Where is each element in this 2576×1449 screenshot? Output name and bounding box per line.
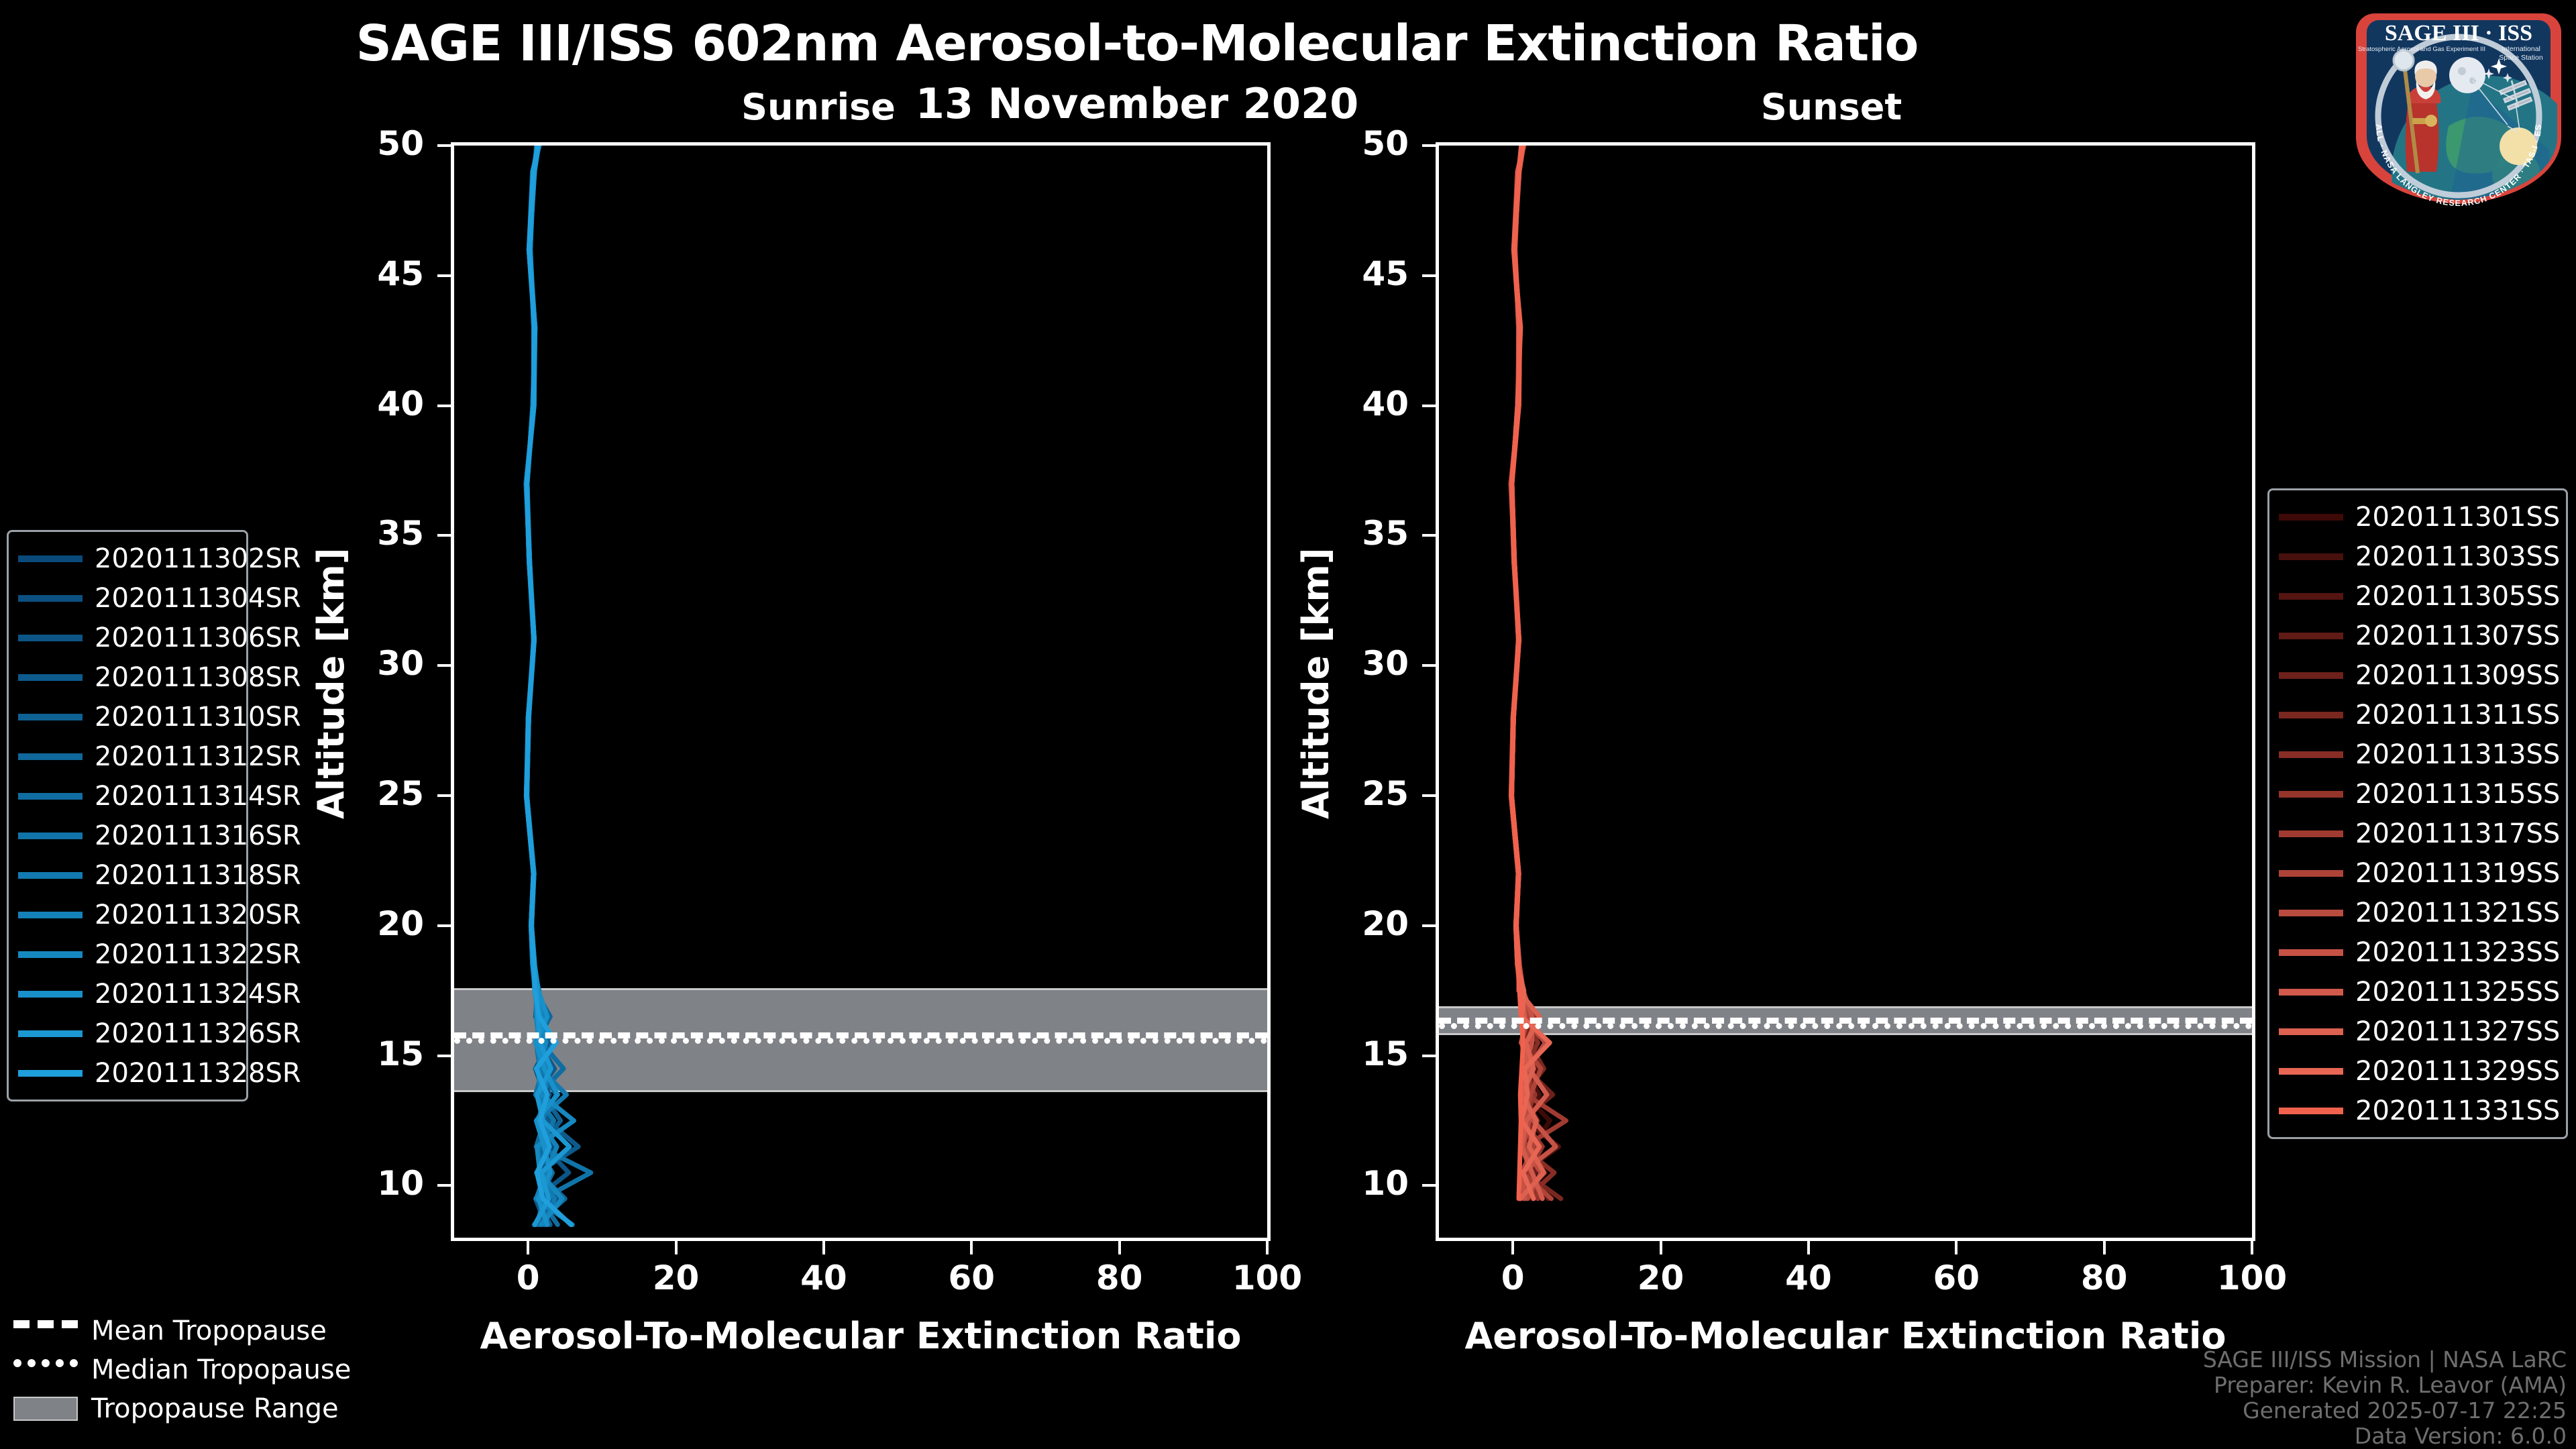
legend-sunrise-item[interactable]: 2020111302SR — [18, 539, 237, 578]
x-axis-tick-label: 20 — [623, 1258, 730, 1297]
legend-sunset-label: 2020111311SS — [2355, 700, 2560, 731]
x-axis-tick — [1955, 1241, 1957, 1254]
legend-sunrise-item[interactable]: 2020111314SR — [18, 776, 237, 816]
x-axis-tick-label: 0 — [1459, 1258, 1566, 1297]
y-axis-tick — [1422, 405, 1436, 407]
legend-sunset-item[interactable]: 2020111307SS — [2279, 616, 2557, 655]
legend-sunset-swatch-icon — [2279, 1028, 2343, 1035]
legend-sunset-label: 2020111323SS — [2355, 937, 2560, 968]
legend-sunset-swatch-icon — [2279, 593, 2343, 600]
legend-sunrise-item[interactable]: 2020111316SR — [18, 816, 237, 855]
legend-sunset-swatch-icon — [2279, 751, 2343, 758]
legend-sunset-swatch-icon — [2279, 870, 2343, 877]
legend-sunset-swatch-icon — [2279, 949, 2343, 956]
x-axis-tick — [1660, 1241, 1662, 1254]
y-axis-tick — [1422, 1055, 1436, 1057]
legend-sunrise-label: 2020111308SR — [95, 662, 301, 693]
x-axis-title: Aerosol-To-Molecular Extinction Ratio — [1436, 1315, 2255, 1357]
y-axis-tick-label: 40 — [1328, 384, 1409, 423]
y-axis-tick-label: 45 — [1328, 254, 1409, 293]
legend-sunset-label: 2020111301SS — [2355, 502, 2560, 533]
legend-sunset-item[interactable]: 2020111305SS — [2279, 576, 2557, 616]
legend-sunrise-swatch-icon — [18, 872, 83, 879]
y-axis-tick — [437, 274, 451, 277]
x-axis-title: Aerosol-To-Molecular Extinction Ratio — [451, 1315, 1271, 1357]
legend-sunrise-swatch-icon — [18, 555, 83, 562]
y-axis-tick — [437, 664, 451, 667]
logo-title: SAGE III · ISS — [2385, 21, 2532, 46]
legend-sunrise-swatch-icon — [18, 1030, 83, 1037]
panel-title-sunrise: Sunrise — [644, 86, 993, 128]
legend-sunrise-item[interactable]: 2020111310SR — [18, 697, 237, 737]
legend-sunrise-swatch-icon — [18, 674, 83, 681]
legend-sunset-item[interactable]: 2020111327SS — [2279, 1012, 2557, 1051]
y-axis-tick — [1422, 924, 1436, 927]
y-axis-tick-label: 50 — [1328, 124, 1409, 163]
legend-sunset-label: 2020111307SS — [2355, 621, 2560, 651]
legend-sunset-swatch-icon — [2279, 910, 2343, 916]
legend-sunrise-swatch-icon — [18, 793, 83, 800]
y-axis-tick — [437, 794, 451, 797]
sage-iii-iss-mission-patch-logo: BALL · NASA LANGLEY RESEARCH CENTER · TA… — [2348, 5, 2569, 207]
key-row-range: Tropopause Range — [13, 1389, 362, 1428]
legend-sunset-item[interactable]: 2020111311SS — [2279, 695, 2557, 735]
legend-sunset-label: 2020111331SS — [2355, 1095, 2560, 1126]
legend-sunset-item[interactable]: 2020111303SS — [2279, 537, 2557, 576]
x-axis-tick-label: 40 — [770, 1258, 877, 1297]
x-axis-tick — [1511, 1241, 1514, 1254]
x-axis-tick-label: 20 — [1607, 1258, 1715, 1297]
legend-sunset-item[interactable]: 2020111323SS — [2279, 932, 2557, 972]
legend-sunset-swatch-icon — [2279, 989, 2343, 996]
y-axis-tick — [1422, 1184, 1436, 1187]
tropopause-range-swatch-icon — [13, 1397, 78, 1421]
legend-sunset-swatch-icon — [2279, 514, 2343, 521]
y-axis-tick — [1422, 794, 1436, 797]
legend-sunset-swatch-icon — [2279, 633, 2343, 639]
plot-area-sunset — [1439, 146, 2252, 1238]
credits-line-mission: SAGE III/ISS Mission | NASA LaRC — [2203, 1347, 2567, 1373]
x-axis-tick — [1118, 1241, 1121, 1254]
median-tropopause-line-icon — [13, 1359, 78, 1381]
legend-sunset-item[interactable]: 2020111313SS — [2279, 735, 2557, 774]
y-axis-tick-label: 20 — [343, 904, 424, 943]
credits-line-generated: Generated 2025-07-17 22:25 — [2203, 1398, 2567, 1424]
figure-root: SAGE III/ISS 602nm Aerosol-to-Molecular … — [0, 0, 2576, 1449]
legend-sunset-item[interactable]: 2020111321SS — [2279, 893, 2557, 932]
x-axis-tick — [1266, 1241, 1269, 1254]
y-axis-tick-label: 15 — [1328, 1034, 1409, 1073]
legend-sunset-label: 2020111321SS — [2355, 898, 2560, 928]
legend-sunrise-label: 2020111326SR — [95, 1018, 301, 1049]
legend-sunrise-label: 2020111302SR — [95, 543, 301, 574]
key-label-range: Tropopause Range — [91, 1393, 339, 1424]
x-axis-tick — [2251, 1241, 2253, 1254]
x-axis-tick — [970, 1241, 973, 1254]
x-axis-tick-label: 60 — [1902, 1258, 2010, 1297]
y-axis-tick — [437, 405, 451, 407]
median-tropopause-line — [454, 1038, 1267, 1044]
legend-sunset-swatch-icon — [2279, 791, 2343, 798]
y-axis-tick — [437, 924, 451, 927]
legend-sunrise-item[interactable]: 2020111312SR — [18, 737, 237, 776]
legend-sunset-label: 2020111309SS — [2355, 660, 2560, 691]
y-axis-tick-label: 25 — [1328, 774, 1409, 813]
y-axis-tick-label: 15 — [343, 1034, 424, 1073]
legend-sunset-label: 2020111313SS — [2355, 739, 2560, 770]
y-axis-tick — [437, 144, 451, 147]
plot-panel-sunset — [1436, 142, 2255, 1241]
y-axis-tick-label: 20 — [1328, 904, 1409, 943]
legend-sunset-swatch-icon — [2279, 1068, 2343, 1075]
legend-sunrise-swatch-icon — [18, 1070, 83, 1077]
legend-sunset-item[interactable]: 2020111329SS — [2279, 1051, 2557, 1091]
legend-sunrise-label: 2020111316SR — [95, 820, 301, 851]
y-axis-tick — [1422, 144, 1436, 147]
legend-sunset-swatch-icon — [2279, 1108, 2343, 1114]
mean-tropopause-line-icon — [13, 1320, 78, 1342]
credits-block: SAGE III/ISS Mission | NASA LaRC Prepare… — [2203, 1347, 2567, 1449]
y-axis-tick-label: 10 — [343, 1164, 424, 1203]
x-axis-tick-label: 60 — [918, 1258, 1025, 1297]
panel-title-sunset: Sunset — [1657, 86, 2006, 128]
legend-sunrise-swatch-icon — [18, 595, 83, 602]
y-axis-tick — [1422, 274, 1436, 277]
y-axis-tick-label: 30 — [343, 644, 424, 683]
legend-sunset-item[interactable]: 2020111319SS — [2279, 853, 2557, 893]
legend-sunset-label: 2020111317SS — [2355, 818, 2560, 849]
y-axis-tick-label: 50 — [343, 124, 424, 163]
y-axis-tick-label: 35 — [343, 514, 424, 553]
legend-sunset-label: 2020111315SS — [2355, 779, 2560, 810]
legend-sunrise-label: 2020111306SR — [95, 623, 301, 653]
y-axis-tick-label: 10 — [1328, 1164, 1409, 1203]
legend-sunset-label: 2020111305SS — [2355, 581, 2560, 612]
y-axis-tick-label: 40 — [343, 384, 424, 423]
legend-sunset-item[interactable]: 2020111317SS — [2279, 814, 2557, 853]
x-axis-tick — [1807, 1241, 1810, 1254]
legend-sunrise-label: 2020111320SR — [95, 900, 301, 930]
legend-sunrise-swatch-icon — [18, 753, 83, 760]
y-axis-tick-label: 25 — [343, 774, 424, 813]
median-tropopause-line — [1439, 1023, 2252, 1029]
legend-sunrise-label: 2020111318SR — [95, 860, 301, 891]
y-axis-tick-label: 35 — [1328, 514, 1409, 553]
legend-sunrise-swatch-icon — [18, 833, 83, 839]
key-row-median: Median Tropopause — [13, 1350, 362, 1389]
x-axis-tick-label: 80 — [2051, 1258, 2158, 1297]
legend-sunrise-item[interactable]: 2020111326SR — [18, 1014, 237, 1053]
legend-sunset-item[interactable]: 2020111309SS — [2279, 655, 2557, 695]
legend-sunrise-swatch-icon — [18, 951, 83, 958]
key-label-mean: Mean Tropopause — [91, 1316, 327, 1346]
legend-sunset-swatch-icon — [2279, 712, 2343, 718]
legend-sunrise-swatch-icon — [18, 714, 83, 720]
legend-sunrise-swatch-icon — [18, 635, 83, 641]
legend-sunset[interactable]: 2020111301SS2020111303SS2020111305SS2020… — [2267, 488, 2568, 1139]
credits-line-version: Data Version: 6.0.0 — [2203, 1424, 2567, 1449]
y-axis-tick — [437, 1055, 451, 1057]
legend-sunrise-label: 2020111312SR — [95, 741, 301, 772]
y-axis-tick-label: 45 — [343, 254, 424, 293]
legend-sunrise-item[interactable]: 2020111324SR — [18, 974, 237, 1014]
legend-sunrise-item[interactable]: 2020111308SR — [18, 657, 237, 697]
key-label-median: Median Tropopause — [91, 1354, 351, 1385]
series-line — [1512, 146, 1523, 1199]
x-axis-tick — [2103, 1241, 2106, 1254]
page-title: SAGE III/ISS 602nm Aerosol-to-Molecular … — [0, 15, 2274, 72]
y-axis-tick-label: 30 — [1328, 644, 1409, 683]
logo-subtitle-right-1: International — [2502, 45, 2540, 53]
x-axis-tick — [822, 1241, 825, 1254]
legend-sunrise-swatch-icon — [18, 991, 83, 998]
legend-sunset-item[interactable]: 2020111315SS — [2279, 774, 2557, 814]
legend-sunrise-item[interactable]: 2020111322SR — [18, 934, 237, 974]
series-layer — [1439, 146, 2252, 1238]
legend-sunrise-label: 2020111322SR — [95, 939, 301, 970]
legend-sunset-swatch-icon — [2279, 553, 2343, 560]
x-axis-tick-label: 40 — [1755, 1258, 1862, 1297]
logo-subtitle-right-2: Space Station — [2499, 54, 2543, 62]
legend-sunset-item[interactable]: 2020111325SS — [2279, 972, 2557, 1012]
legend-sunrise-item[interactable]: 2020111306SR — [18, 618, 237, 657]
legend-sunrise-label: 2020111304SR — [95, 583, 301, 614]
legend-sunset-swatch-icon — [2279, 672, 2343, 679]
legend-sunset-label: 2020111325SS — [2355, 977, 2560, 1008]
legend-sunrise[interactable]: 2020111302SR2020111304SR2020111306SR2020… — [7, 530, 248, 1102]
legend-sunset-label: 2020111319SS — [2355, 858, 2560, 889]
plot-area-sunrise — [454, 146, 1267, 1238]
tropopause-key: Mean Tropopause Median Tropopause Tropop… — [13, 1311, 362, 1428]
legend-sunrise-item[interactable]: 2020111304SR — [18, 578, 237, 618]
legend-sunset-label: 2020111329SS — [2355, 1056, 2560, 1087]
y-axis-title: Altitude [km] — [310, 548, 352, 820]
legend-sunrise-item[interactable]: 2020111320SR — [18, 895, 237, 934]
x-axis-tick — [527, 1241, 529, 1254]
y-axis-tick — [1422, 664, 1436, 667]
y-axis-tick — [437, 534, 451, 537]
logo-subtitle-left: Stratospheric Aerosol and Gas Experiment… — [2358, 46, 2485, 53]
y-axis-tick — [1422, 534, 1436, 537]
legend-sunrise-label: 2020111324SR — [95, 979, 301, 1010]
x-axis-tick-label: 100 — [1214, 1258, 1321, 1297]
legend-sunset-item[interactable]: 2020111301SS — [2279, 497, 2557, 537]
series-layer — [454, 146, 1267, 1238]
legend-sunrise-swatch-icon — [18, 912, 83, 918]
legend-sunset-item[interactable]: 2020111331SS — [2279, 1091, 2557, 1130]
x-axis-tick-label: 100 — [2198, 1258, 2306, 1297]
credits-line-preparer: Preparer: Kevin R. Leavor (AMA) — [2203, 1373, 2567, 1398]
x-axis-tick-label: 0 — [474, 1258, 582, 1297]
legend-sunrise-label: 2020111310SR — [95, 702, 301, 733]
legend-sunset-label: 2020111327SS — [2355, 1016, 2560, 1047]
legend-sunset-swatch-icon — [2279, 830, 2343, 837]
legend-sunrise-item[interactable]: 2020111328SR — [18, 1053, 237, 1093]
y-axis-title: Altitude [km] — [1295, 548, 1337, 820]
legend-sunrise-label: 2020111328SR — [95, 1058, 301, 1089]
legend-sunset-label: 2020111303SS — [2355, 541, 2560, 572]
legend-sunrise-item[interactable]: 2020111318SR — [18, 855, 237, 895]
plot-panel-sunrise — [451, 142, 1271, 1241]
x-axis-tick — [675, 1241, 678, 1254]
y-axis-tick — [437, 1184, 451, 1187]
x-axis-tick-label: 80 — [1066, 1258, 1173, 1297]
key-row-mean: Mean Tropopause — [13, 1311, 362, 1350]
legend-sunrise-label: 2020111314SR — [95, 781, 301, 812]
